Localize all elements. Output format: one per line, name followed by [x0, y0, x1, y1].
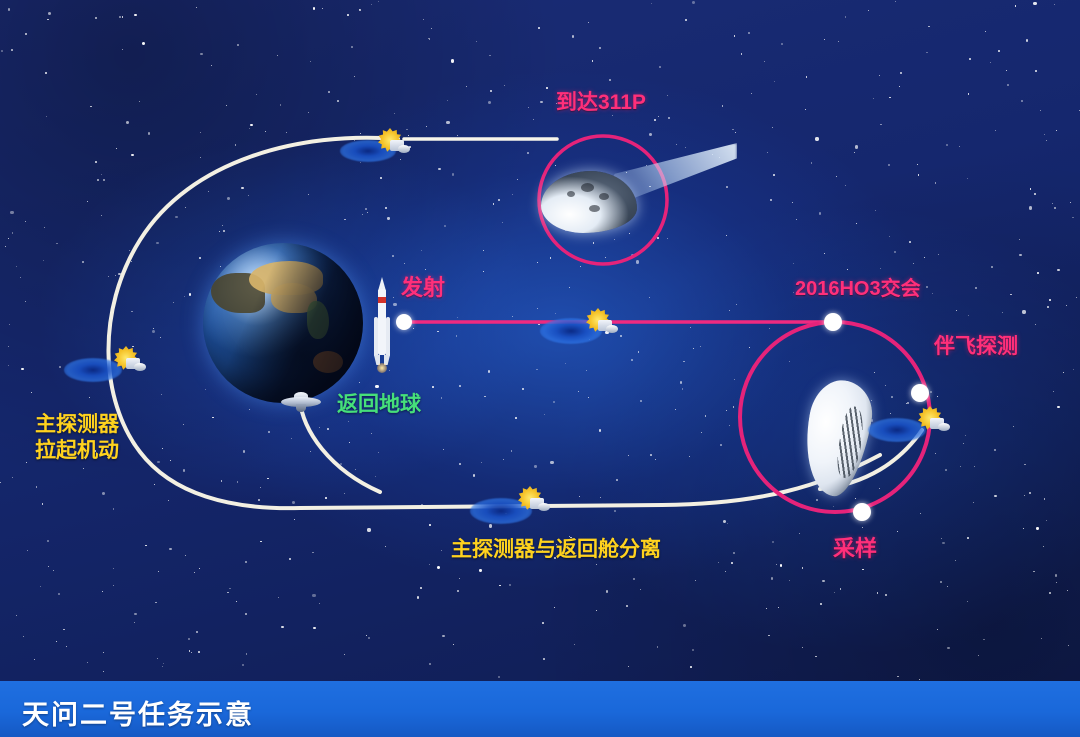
comet-crater — [589, 205, 600, 212]
marker-launch-point — [396, 314, 412, 330]
comet-nucleus — [541, 171, 637, 233]
return-capsule — [281, 392, 321, 414]
comet-crater — [567, 191, 575, 197]
trajectory-layer — [0, 0, 1080, 681]
antenna-dish-icon — [538, 503, 550, 511]
label-return-to-earth: 返回地球 — [337, 392, 421, 418]
rocket-booster-left — [374, 317, 378, 357]
comet-crater — [599, 193, 609, 200]
spacecraft-cruise-center — [576, 306, 620, 336]
label-probe-capsule-sep: 主探测器与返回舱分离 — [451, 537, 661, 563]
antenna-dish-icon — [606, 325, 618, 333]
marker-ho3-bottom — [853, 503, 871, 521]
spacecraft-separation — [508, 484, 552, 514]
launch-rocket — [374, 277, 390, 373]
capsule-base — [296, 404, 306, 412]
comet-crater — [581, 183, 594, 192]
marker-ho3-top — [824, 313, 842, 331]
label-probe-pullup: 主探测器拉起机动 — [35, 412, 119, 463]
rocket-flame-icon — [377, 363, 387, 373]
spacecraft-top-left — [368, 126, 412, 156]
earth — [203, 243, 363, 403]
label-arrive-311p: 到达311P — [556, 90, 646, 116]
spacecraft-sampling — [908, 404, 952, 434]
earth-terminator-shadow — [203, 243, 363, 403]
antenna-dish-icon — [398, 145, 410, 153]
label-flyby-survey: 伴飞探测 — [934, 334, 1018, 360]
rocket-red-band — [378, 297, 386, 303]
mission-diagram-root: 到达311P发射2016HO3交会伴飞探测采样返回地球主探测器拉起机动主探测器与… — [0, 0, 1080, 737]
label-2016ho3-rendezvous: 2016HO3交会 — [795, 277, 921, 301]
marker-ho3-right — [911, 384, 929, 402]
banner-title: 天问二号任务示意 — [22, 693, 254, 732]
spacecraft-left-pullup — [104, 344, 148, 374]
label-sampling: 采样 — [833, 536, 877, 563]
label-launch: 发射 — [401, 275, 445, 302]
rocket-booster-right — [386, 317, 390, 357]
bottom-banner: 天问二号任务示意 — [0, 681, 1080, 737]
comet-311p — [541, 165, 641, 239]
antenna-dish-icon — [134, 363, 146, 371]
antenna-dish-icon — [938, 423, 950, 431]
